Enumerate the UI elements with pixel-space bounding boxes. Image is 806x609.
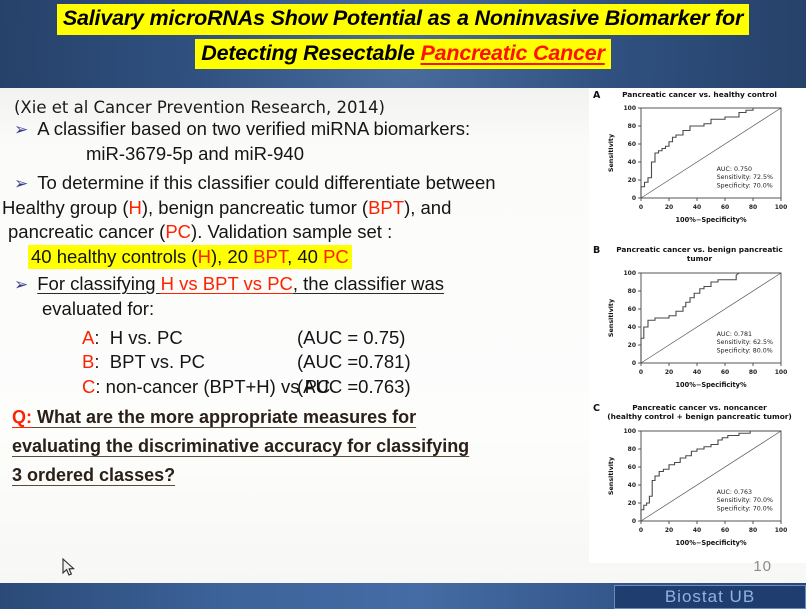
svg-text:AUC: 0.750: AUC: 0.750	[716, 166, 751, 173]
roc-panel-c-title-line1: Pancreatic cancer vs. noncancer	[632, 403, 767, 412]
b2c-H: H	[128, 197, 141, 218]
svg-text:80: 80	[627, 288, 635, 295]
b3-a: pancreatic cancer (	[8, 221, 165, 242]
roc-panel-a: A Pancreatic cancer vs. healthy control …	[589, 88, 806, 243]
bullet-arrow-icon-3: ➢	[14, 275, 28, 295]
b4-a: For classifying	[37, 273, 160, 294]
vs-a: 40 healthy controls (	[31, 246, 198, 267]
svg-text:100: 100	[774, 369, 787, 376]
svg-text:100: 100	[774, 204, 787, 211]
svg-text:20: 20	[664, 369, 672, 376]
svg-text:60: 60	[627, 141, 635, 148]
title-line-2-red: Pancreatic Cancer	[421, 41, 605, 65]
svg-text:80: 80	[748, 369, 756, 376]
svg-text:100%−Specificity%: 100%−Specificity%	[675, 381, 747, 389]
svg-text:100%−Specificity%: 100%−Specificity%	[675, 216, 747, 224]
eval-row-c-auc: (AUC =0.763)	[297, 378, 411, 397]
eval-row-a-colon: :	[94, 327, 109, 348]
validation-sample-text: 40 healthy controls (H), 20 BPT, 40 PC	[28, 245, 352, 269]
svg-text:80: 80	[748, 204, 756, 211]
eval-row-a-auc: (AUC = 0.75)	[297, 329, 405, 348]
validation-sample-highlight: 40 healthy controls (H), 20 BPT, 40 PC	[0, 248, 588, 267]
svg-text:80: 80	[627, 123, 635, 130]
vs-PC: PC	[323, 246, 349, 267]
roc-panel-b: B Pancreatic cancer vs. benign pancreati…	[589, 243, 806, 401]
vs-c: , 40	[287, 246, 323, 267]
svg-text:0: 0	[638, 204, 642, 211]
eval-row-b-left: B: BPT vs. PC	[82, 353, 297, 372]
svg-text:20: 20	[627, 177, 635, 184]
bullet-item-2: ➢To determine if this classifier could d…	[0, 174, 588, 193]
roc-panel-c: C Pancreatic cancer vs. noncancer (healt…	[589, 401, 806, 561]
title-line-1-text: Salivary microRNAs Show Potential as a N…	[57, 4, 749, 35]
eval-row-b: B: BPT vs. PC (AUC =0.781)	[0, 353, 588, 372]
svg-text:40: 40	[627, 482, 635, 489]
roc-panel-c-letter: C	[593, 403, 600, 414]
b2c-b: ), benign pancreatic tumor (	[142, 197, 368, 218]
svg-text:Sensitivity: Sensitivity	[607, 298, 615, 337]
eval-row-c-left: C: non-cancer (BPT+H) vs PC	[82, 378, 297, 397]
bullet-item-1-sub: miR-3679-5p and miR-940	[0, 145, 588, 164]
eval-row-c-letter: C	[82, 376, 95, 397]
b4-b: , the classifier was	[293, 273, 444, 294]
svg-text:0: 0	[638, 369, 642, 376]
figure-column: A Pancreatic cancer vs. healthy control …	[589, 88, 806, 563]
svg-text:0: 0	[631, 360, 635, 367]
svg-text:20: 20	[664, 527, 672, 534]
question-line-3: 3 ordered classes?	[0, 465, 175, 486]
svg-text:AUC: 0.781: AUC: 0.781	[716, 331, 751, 338]
b2c-BPT: BPT	[368, 197, 404, 218]
roc-panel-c-title: Pancreatic cancer vs. noncancer (healthy…	[589, 401, 806, 423]
b3-b: ). Validation sample set :	[191, 221, 392, 242]
title-line-2-black: Detecting Resectable	[201, 41, 420, 65]
bullet-item-1-sub-label: miR-3679-5p and miR-940	[86, 143, 304, 164]
question-marker: Q:	[12, 407, 32, 427]
svg-text:Sensitivity: 72.5%: Sensitivity: 72.5%	[716, 174, 772, 181]
eval-row-c: C: non-cancer (BPT+H) vs PC (AUC =0.763)	[0, 378, 588, 397]
bullet-item-4: ➢For classifying H vs BPT vs PC, the cla…	[0, 275, 588, 294]
svg-text:100: 100	[623, 428, 636, 435]
bullet-item-4-cont: evaluated for:	[0, 300, 588, 319]
bullet-item-2-cont: Healthy group (H), benign pancreatic tum…	[0, 199, 588, 218]
bullet-item-1: ➢A classifier based on two verified miRN…	[0, 120, 588, 139]
svg-text:Specificity: 70.0%: Specificity: 70.0%	[716, 183, 772, 190]
vs-BPT: BPT	[253, 246, 287, 267]
svg-text:100: 100	[623, 105, 636, 112]
svg-text:Sensitivity: Sensitivity	[607, 456, 615, 495]
roc-panel-b-letter: B	[593, 245, 600, 256]
roc-panel-a-title: Pancreatic cancer vs. healthy control	[589, 88, 806, 100]
svg-text:60: 60	[720, 527, 728, 534]
roc-panel-b-title: Pancreatic cancer vs. benign pancreatic …	[589, 243, 806, 265]
slide-footer: Biostat UB	[0, 583, 806, 609]
roc-panel-c-title-line2: (healthy control + benign pancreatic tum…	[607, 412, 792, 421]
text-column: (Xie et al Cancer Prevention Research, 2…	[0, 88, 588, 583]
svg-text:Sensitivity: Sensitivity	[607, 133, 615, 172]
vs-b: ), 20	[211, 246, 253, 267]
eval-row-b-label: BPT vs. PC	[110, 351, 205, 372]
svg-text:AUC: 0.763: AUC: 0.763	[716, 489, 751, 496]
svg-text:100: 100	[623, 270, 636, 277]
question-block: Q: What are the more appropriate measure…	[0, 407, 588, 494]
b4-cont-label: evaluated for:	[42, 298, 154, 319]
svg-text:0: 0	[638, 527, 642, 534]
bullet-item-3-cont: pancreatic cancer (PC). Validation sampl…	[0, 223, 588, 242]
svg-text:60: 60	[627, 464, 635, 471]
eval-row-a-letter: A	[82, 327, 94, 348]
citation-text: (Xie et al Cancer Prevention Research, 2…	[14, 98, 588, 117]
eval-row-a-label: H vs. PC	[110, 327, 183, 348]
svg-text:20: 20	[627, 500, 635, 507]
roc-panel-c-plot: 020406080100020406080100100%−Specificity…	[589, 423, 806, 551]
svg-text:40: 40	[692, 204, 700, 211]
roc-panel-a-letter: A	[593, 90, 600, 101]
bullet-item-2-label: To determine if this classifier could di…	[37, 172, 495, 193]
svg-text:40: 40	[627, 159, 635, 166]
b3-PC: PC	[165, 221, 191, 242]
svg-text:20: 20	[664, 204, 672, 211]
bullet-arrow-icon: ➢	[14, 120, 28, 140]
svg-text:80: 80	[627, 446, 635, 453]
b2c-a: Healthy group (	[2, 197, 128, 218]
svg-text:20: 20	[627, 342, 635, 349]
question-line-1: Q: What are the more appropriate measure…	[0, 407, 588, 428]
slide-title: Salivary microRNAs Show Potential as a N…	[0, 4, 806, 73]
question-line-2: evaluating the discriminative accuracy f…	[0, 436, 588, 457]
svg-text:80: 80	[748, 527, 756, 534]
eval-row-b-colon: :	[94, 351, 109, 372]
eval-row-a: A: H vs. PC (AUC = 0.75)	[0, 329, 588, 348]
svg-text:40: 40	[692, 527, 700, 534]
svg-text:100%−Specificity%: 100%−Specificity%	[675, 539, 747, 547]
content-panel: (Xie et al Cancer Prevention Research, 2…	[0, 88, 806, 583]
svg-text:60: 60	[627, 306, 635, 313]
title-line-1: Salivary microRNAs Show Potential as a N…	[0, 4, 806, 35]
svg-text:40: 40	[627, 324, 635, 331]
roc-panel-a-plot: 020406080100020406080100100%−Specificity…	[589, 100, 806, 228]
slide-root: Salivary microRNAs Show Potential as a N…	[0, 0, 806, 609]
svg-text:Sensitivity: 62.5%: Sensitivity: 62.5%	[716, 339, 772, 346]
eval-row-b-letter: B	[82, 351, 94, 372]
question-line-1-text: What are the more appropriate measures f…	[32, 407, 416, 427]
vs-H: H	[198, 246, 211, 267]
footer-brand-label: Biostat UB	[665, 587, 755, 607]
footer-brand-box: Biostat UB	[614, 585, 806, 609]
b2c-c: ), and	[404, 197, 451, 218]
svg-text:100: 100	[774, 527, 787, 534]
eval-row-a-left: A: H vs. PC	[82, 329, 297, 348]
svg-text:0: 0	[631, 195, 635, 202]
svg-text:60: 60	[720, 369, 728, 376]
svg-text:Specificity: 70.0%: Specificity: 70.0%	[716, 505, 772, 512]
svg-text:Specificity: 80.0%: Specificity: 80.0%	[716, 347, 772, 354]
svg-text:40: 40	[692, 369, 700, 376]
svg-text:0: 0	[631, 518, 635, 525]
bullet-arrow-icon-2: ➢	[14, 174, 28, 194]
bullet-item-1-label: A classifier based on two verified miRNA…	[37, 118, 470, 139]
eval-row-c-colon: :	[95, 376, 105, 397]
svg-text:Sensitivity: 70.0%: Sensitivity: 70.0%	[716, 497, 772, 504]
eval-row-b-auc: (AUC =0.781)	[297, 353, 411, 372]
roc-panel-b-plot: 020406080100020406080100100%−Specificity…	[589, 265, 806, 393]
title-line-2-text: Detecting Resectable Pancreatic Cancer	[195, 39, 610, 70]
mouse-cursor-icon	[62, 558, 75, 577]
b4-red: H vs BPT vs PC	[161, 273, 293, 294]
title-line-2: Detecting Resectable Pancreatic Cancer	[0, 39, 806, 70]
page-number: 10	[753, 558, 772, 575]
svg-text:60: 60	[720, 204, 728, 211]
